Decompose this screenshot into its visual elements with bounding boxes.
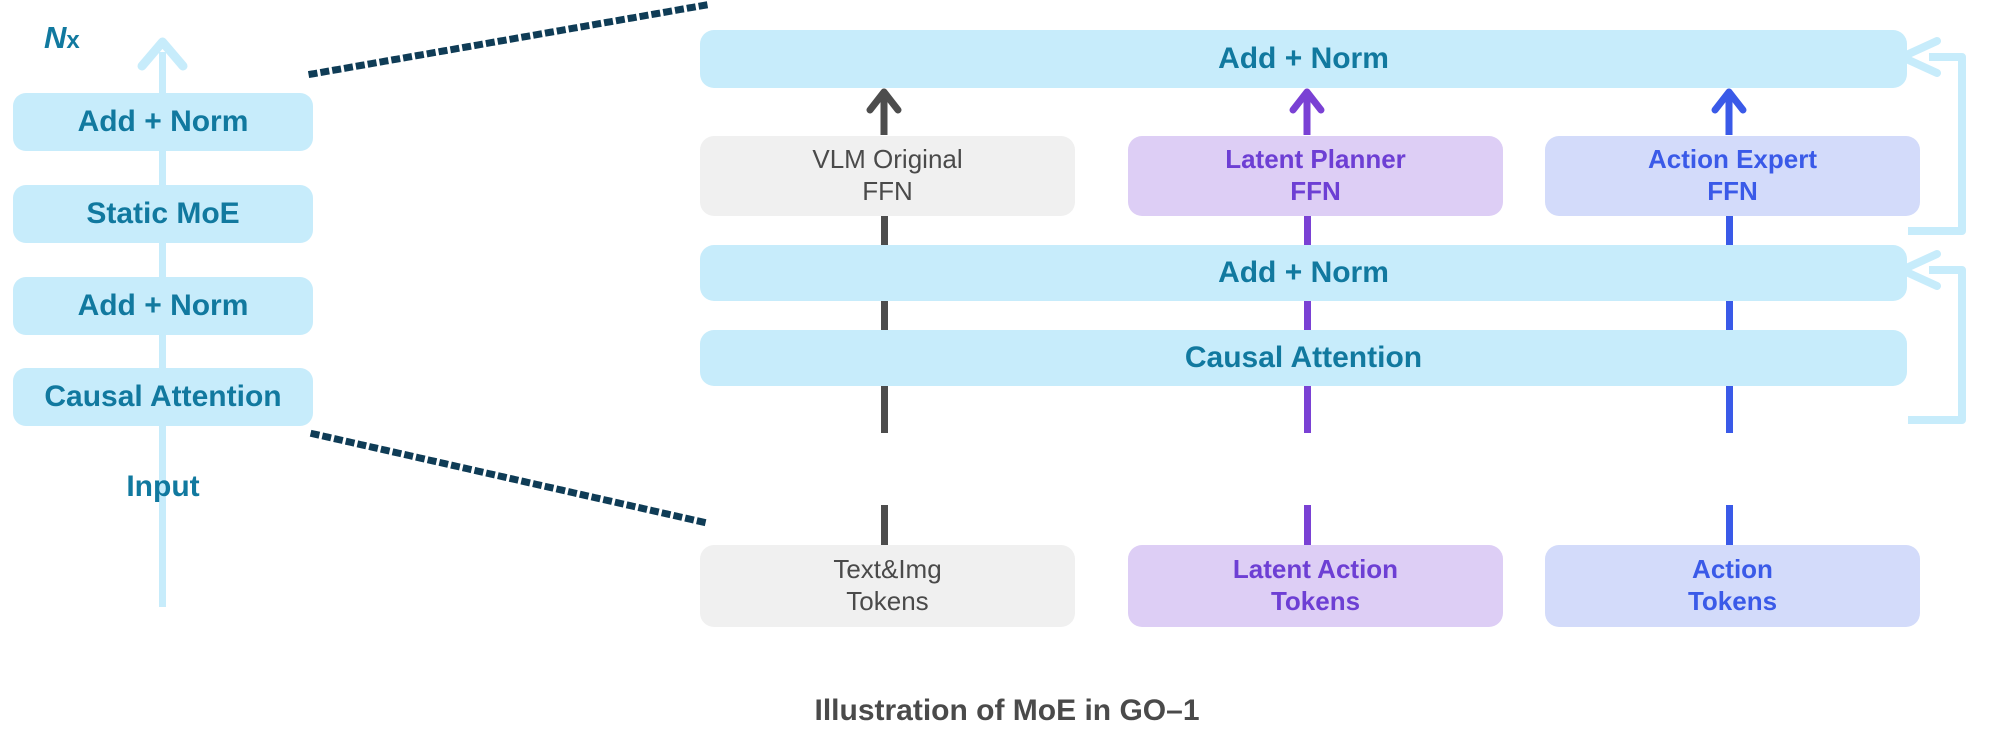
residual-arrowhead-lower-icon: [1902, 254, 1937, 286]
vlm-arrowhead-icon: [870, 92, 898, 110]
left-block-label: Add + Norm: [78, 104, 249, 141]
expansion-connector-bottom: [314, 434, 707, 523]
right-causal-attention-label: Causal Attention: [1185, 340, 1422, 377]
left-input-label: Input: [13, 470, 313, 504]
vlm-line-tokens-up: [881, 505, 888, 547]
latent-arrowhead-icon: [1293, 92, 1321, 110]
token-label: Action Tokens: [1688, 554, 1777, 617]
token-box-action: Action Tokens: [1545, 545, 1920, 627]
left-block-label: Causal Attention: [44, 379, 281, 416]
left-block-label: Static MoE: [86, 196, 239, 233]
token-box-text-img: Text&Img Tokens: [700, 545, 1075, 627]
latent-line-norm-to-attention: [1304, 300, 1311, 330]
expansion-connector-top: [312, 5, 706, 74]
right-top-add-norm-label: Add + Norm: [1218, 41, 1389, 78]
expert-box-vlm-original-ffn: VLM Original FFN: [700, 136, 1075, 216]
residual-path-lower: [1908, 270, 1962, 420]
expert-label: VLM Original FFN: [812, 144, 962, 207]
expert-label: Latent Planner FFN: [1225, 144, 1406, 207]
vlm-line-norm-to-attention: [881, 300, 888, 330]
token-label: Text&Img Tokens: [833, 554, 941, 617]
left-block-static-moe: Static MoE: [13, 185, 313, 243]
left-block-label: Add + Norm: [78, 288, 249, 325]
token-box-latent-action: Latent Action Tokens: [1128, 545, 1503, 627]
input-label-text: Input: [126, 470, 199, 503]
action-line-tokens-to-attention: [1726, 385, 1733, 433]
repeat-count-x: x: [66, 27, 79, 54]
left-block-add-norm-bottom: Add + Norm: [13, 277, 313, 335]
repeat-count-label: Nx: [44, 20, 80, 56]
left-block-causal-attention: Causal Attention: [13, 368, 313, 426]
right-causal-attention: Causal Attention: [700, 330, 1907, 386]
latent-line-tokens-up: [1304, 505, 1311, 547]
right-mid-add-norm: Add + Norm: [700, 245, 1907, 301]
right-mid-add-norm-label: Add + Norm: [1218, 255, 1389, 292]
left-block-add-norm-top: Add + Norm: [13, 93, 313, 151]
figure-caption: Illustration of MoE in GO–1: [0, 694, 2014, 728]
figure-canvas: Nx Add + Norm Static MoE Add + No: [0, 0, 2014, 748]
expert-label: Action Expert FFN: [1648, 144, 1817, 207]
expert-box-action-expert-ffn: Action Expert FFN: [1545, 136, 1920, 216]
latent-line-tokens-to-attention: [1304, 385, 1311, 433]
right-top-add-norm: Add + Norm: [700, 30, 1907, 88]
repeat-count-n: N: [44, 20, 66, 55]
token-label: Latent Action Tokens: [1233, 554, 1398, 617]
figure-caption-text: Illustration of MoE in GO–1: [814, 694, 1199, 727]
action-line-norm-to-attention: [1726, 300, 1733, 330]
vlm-line-tokens-to-attention: [881, 385, 888, 433]
residual-arrowhead-upper-icon: [1902, 41, 1937, 73]
expert-box-latent-planner-ffn: Latent Planner FFN: [1128, 136, 1503, 216]
action-arrowhead-icon: [1715, 92, 1743, 110]
action-line-tokens-up: [1726, 505, 1733, 547]
